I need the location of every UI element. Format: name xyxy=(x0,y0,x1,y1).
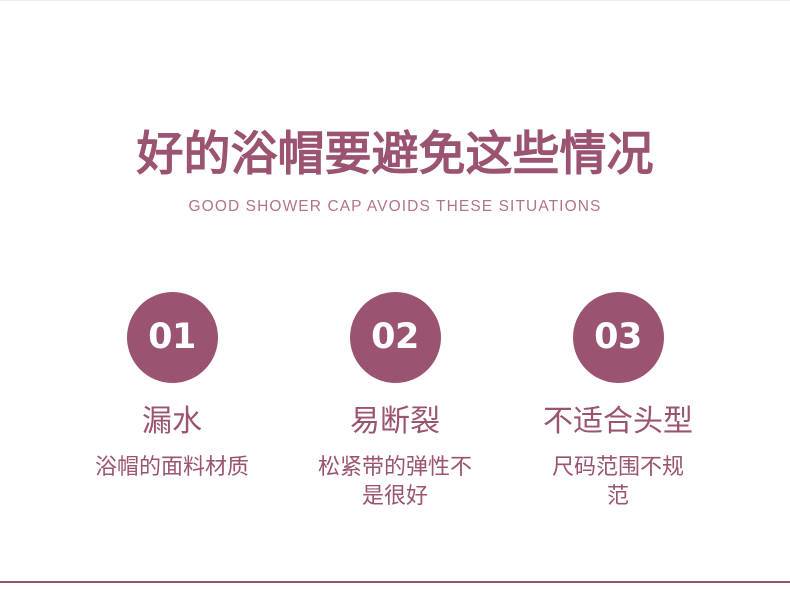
card-description-01: 浴帽的面料材质 xyxy=(95,453,249,482)
number-badge-02: 02 xyxy=(350,292,441,383)
card-description-02: 松紧带的弹性不是很好 xyxy=(315,453,475,511)
feature-card-list: 01 漏水 浴帽的面料材质 02 易断裂 松紧带的弹性不是很好 03 不适合头型… xyxy=(0,292,790,511)
badge-number-label: 01 xyxy=(148,320,196,355)
card-heading-01: 漏水 xyxy=(142,405,202,439)
top-divider xyxy=(0,0,790,1)
number-badge-03: 03 xyxy=(573,292,664,383)
card-heading-03: 不适合头型 xyxy=(543,405,693,439)
bottom-divider xyxy=(0,581,790,583)
card-heading-02: 易断裂 xyxy=(350,405,440,439)
header: 好的浴帽要避免这些情况 GOOD SHOWER CAP AVOIDS THESE… xyxy=(0,126,790,216)
promo-banner: 好的浴帽要避免这些情况 GOOD SHOWER CAP AVOIDS THESE… xyxy=(0,0,790,589)
number-badge-01: 01 xyxy=(127,292,218,383)
card-description-03: 尺码范围不规范 xyxy=(548,453,688,511)
page-title: 好的浴帽要避免这些情况 xyxy=(0,126,790,184)
page-subtitle: GOOD SHOWER CAP AVOIDS THESE SITUATIONS xyxy=(0,198,790,216)
badge-number-label: 03 xyxy=(594,320,642,355)
feature-card-02: 02 易断裂 松紧带的弹性不是很好 xyxy=(284,292,506,511)
feature-card-01: 01 漏水 浴帽的面料材质 xyxy=(61,292,283,482)
feature-card-03: 03 不适合头型 尺码范围不规范 xyxy=(507,292,729,511)
badge-number-label: 02 xyxy=(371,320,419,355)
